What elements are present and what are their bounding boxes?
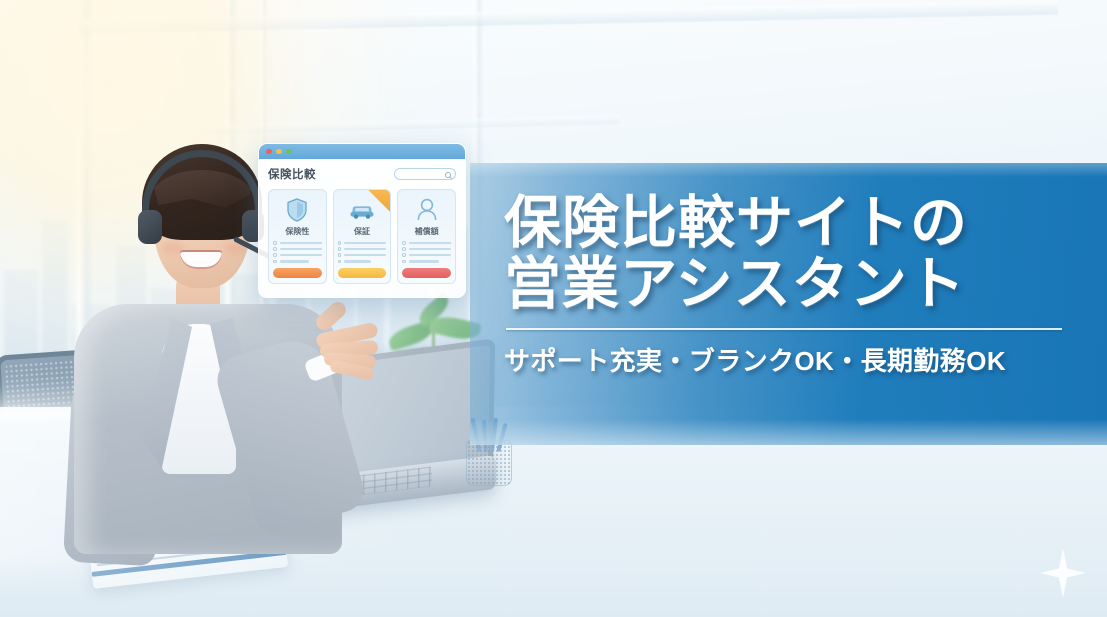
- presenting-hand: [314, 298, 398, 376]
- headset-earcup: [138, 210, 162, 244]
- maximize-dot[interactable]: [286, 149, 292, 155]
- insurance-comparison-card[interactable]: 保険比較 保険性: [258, 143, 466, 298]
- comparison-column[interactable]: 保証: [333, 189, 392, 284]
- headline-line-1: 保険比較サイトの: [504, 193, 1085, 254]
- person-icon: [402, 195, 451, 225]
- shield-icon: [273, 195, 322, 225]
- search-icon: [445, 172, 451, 178]
- column-cta-button[interactable]: [273, 268, 322, 278]
- hero-banner: 保険比較 保険性: [0, 0, 1107, 617]
- column-cta-button[interactable]: [338, 268, 387, 278]
- headline-divider: [506, 328, 1062, 330]
- column-label: 保険性: [273, 226, 322, 237]
- minimize-dot[interactable]: [276, 149, 282, 155]
- column-label: 保証: [338, 226, 387, 237]
- search-input[interactable]: [394, 168, 456, 180]
- headline-panel: 保険比較サイトの 営業アシスタント サポート充実・ブランクOK・長期勤務OK: [470, 163, 1107, 445]
- column-cta-button[interactable]: [402, 268, 451, 278]
- subline: サポート充実・ブランクOK・長期勤務OK: [504, 341, 1085, 378]
- close-dot[interactable]: [266, 149, 272, 155]
- headline-line-2: 営業アシスタント: [504, 254, 1085, 315]
- comparison-column[interactable]: 補償額: [397, 189, 456, 284]
- comparison-column[interactable]: 保険性: [268, 189, 327, 284]
- card-titlebar: [259, 144, 465, 159]
- comparison-columns: 保険性 保証: [268, 189, 456, 284]
- card-title: 保険比較: [268, 166, 316, 182]
- column-label: 補償額: [402, 226, 451, 237]
